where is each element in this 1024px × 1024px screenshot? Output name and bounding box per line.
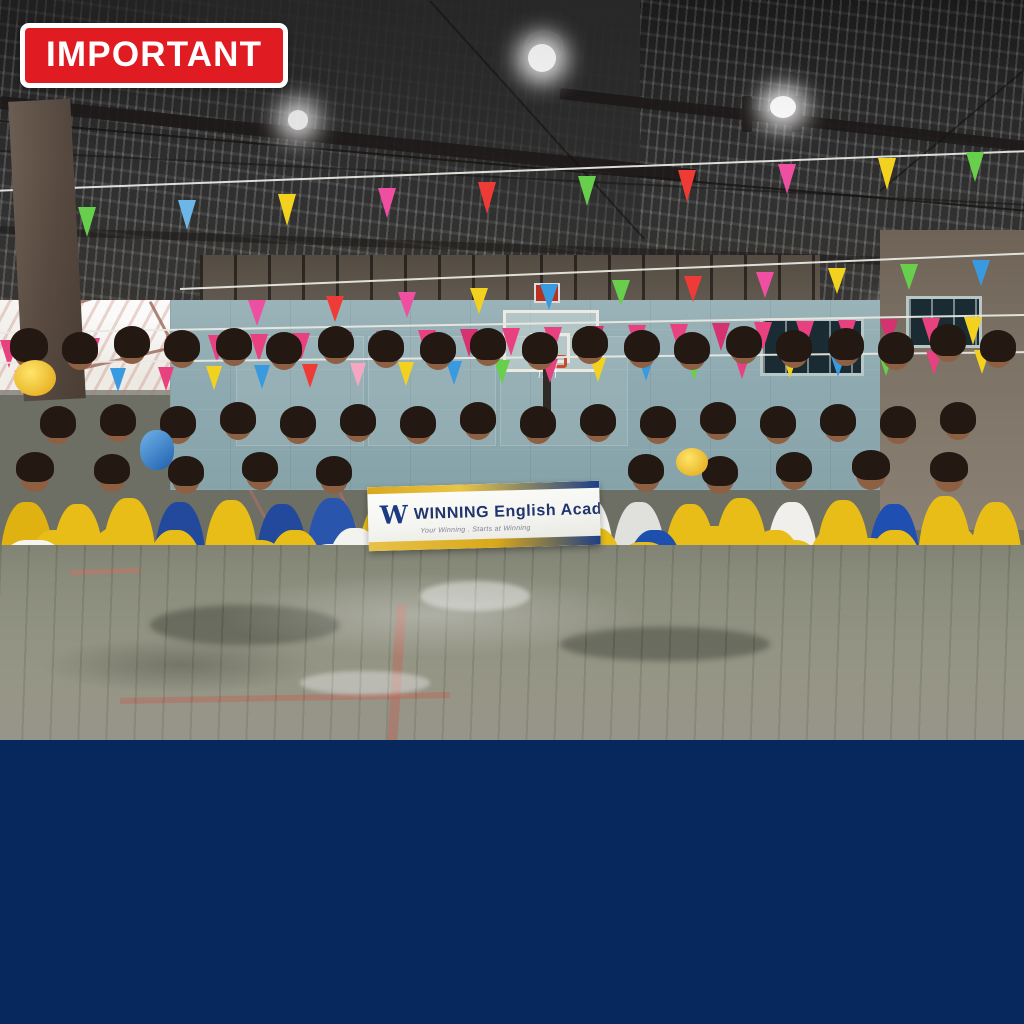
promo-banner: WINTER CAMP 2026 - 86 DAYS LEFT Give you… bbox=[0, 740, 1024, 1024]
important-badge-label: IMPORTANT bbox=[46, 37, 262, 72]
winter-camp-promo-poster: W WINNING English Academy Your Winning .… bbox=[0, 0, 1024, 1024]
important-badge: IMPORTANT bbox=[20, 23, 288, 88]
group-photo: W WINNING English Academy Your Winning .… bbox=[0, 0, 1024, 740]
photo-vignette bbox=[0, 0, 1024, 740]
